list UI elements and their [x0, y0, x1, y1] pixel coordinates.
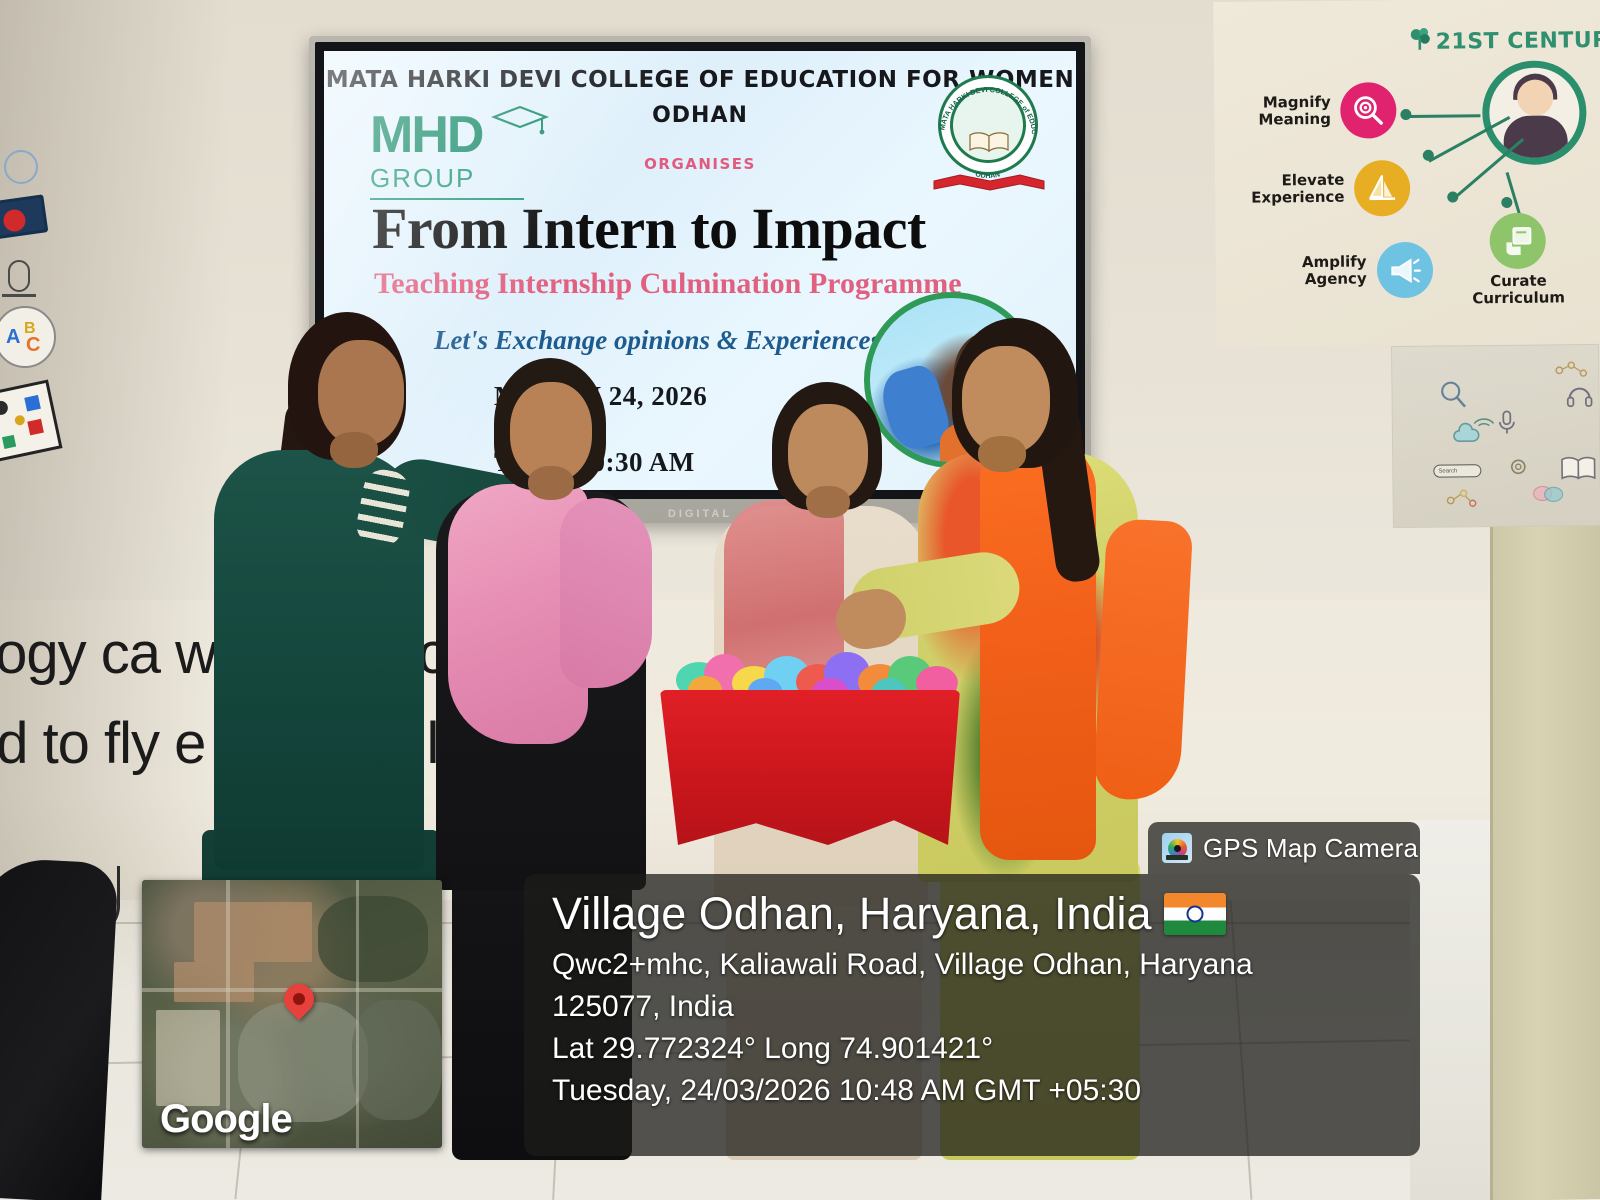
book-icon [1559, 453, 1597, 483]
slide-heading: From Intern to Impact [372, 195, 926, 262]
open-book-icon [969, 131, 1009, 153]
right-door-column [1490, 519, 1600, 1200]
person-partial-foreground [0, 857, 119, 1200]
poster-21st-century: 21ST CENTURY MagnifyMeaning [1213, 0, 1600, 347]
mhd-group-logo: MHD GROUP [370, 109, 550, 205]
network-node-icon [1446, 486, 1480, 508]
india-flag-icon [1164, 893, 1226, 935]
gps-camera-app-icon [1162, 833, 1192, 863]
poster-item-label: MagnifyMeaning [1258, 94, 1331, 128]
chat-bubble-icon [1531, 481, 1565, 505]
gps-text-block: Village Odhan, Haryana, India Qwc2+mhc, … [552, 890, 1422, 1111]
poster-item-amplify-agency: AmplifyAgency [1302, 242, 1433, 299]
connector-dot [1400, 109, 1411, 120]
magnifier-target-icon [1341, 82, 1398, 139]
microphone-icon [1493, 408, 1521, 436]
google-watermark: Google [160, 1097, 292, 1142]
whiteboard-hand-icon [1490, 213, 1547, 270]
student-avatar-icon [1482, 60, 1587, 165]
megaphone-icon [1376, 242, 1433, 299]
poster-tech-icons: Search [1391, 344, 1600, 528]
poster-item-label: ElevateExperience [1251, 172, 1345, 207]
mhd-logo-group-text: GROUP [370, 163, 550, 194]
connector-dot [1447, 191, 1458, 202]
poster-item-label: CurateCurriculum [1472, 272, 1565, 307]
microphone-icon [8, 260, 30, 292]
college-emblem: MATA HARKI DEVI COLLEGE of EDUCATION for… [930, 75, 1048, 199]
palette-grid-icon [0, 379, 63, 462]
gear-icon [1505, 454, 1531, 480]
photo-frame-icon [0, 194, 48, 239]
poster-title: 21ST CENTURY [1436, 28, 1600, 55]
gps-coordinates: Lat 29.772324° Long 74.901421° [552, 1029, 1422, 1069]
sailboat-icon [1354, 160, 1411, 217]
gps-app-name: GPS Map Camera [1203, 833, 1418, 864]
photograph: ology ca w the educa rld to fly e - if w… [0, 0, 1600, 1200]
abc-circle-icon: A B C [0, 306, 56, 368]
poster-item-label: AmplifyAgency [1302, 254, 1367, 288]
gps-location-name: Village Odhan, Haryana, India [552, 890, 1152, 937]
tv-brand-label: DIGITAL [668, 508, 732, 520]
svg-text:MATA HARKI DEVI COLLEGE of EDU: MATA HARKI DEVI COLLEGE of EDUCATION for… [930, 75, 1039, 135]
gps-map-camera-badge: GPS Map Camera [1148, 822, 1420, 874]
poster-item-curate-curriculum: CurateCurriculum [1471, 212, 1565, 307]
poster-item-elevate-experience: ElevateExperience [1251, 160, 1411, 218]
network-node-icon [1554, 359, 1588, 381]
search-label: Search [1438, 468, 1457, 474]
connector-dot [1501, 197, 1512, 208]
gps-address-line-1: Qwc2+mhc, Kaliawali Road, Village Odhan,… [552, 945, 1422, 985]
table-with-red-cloth [660, 690, 960, 845]
magnifier-icon [1436, 378, 1470, 412]
tree-icon [1407, 26, 1433, 52]
poster-item-magnify-meaning: MagnifyMeaning [1258, 82, 1397, 139]
poster-left-partial: A B C [0, 150, 56, 510]
gps-timestamp: Tuesday, 24/03/2026 10:48 AM GMT +05:30 [552, 1071, 1422, 1111]
gps-address-line-2: 125077, India [552, 987, 1422, 1027]
connector-dot [1423, 150, 1434, 161]
graduation-cap-icon [490, 105, 550, 135]
search-input-illustration: Search [1433, 464, 1481, 478]
slide-subheading: Teaching Internship Culmination Programm… [374, 267, 962, 301]
emblem-ribbon [930, 169, 1048, 195]
circle-icon [4, 150, 38, 184]
gps-map-thumbnail[interactable]: Google [142, 880, 442, 1148]
headphones-icon [1564, 381, 1594, 411]
connector-line [1408, 114, 1480, 118]
gps-location-title: Village Odhan, Haryana, India [552, 890, 1422, 937]
wifi-icon [1471, 408, 1497, 430]
slide-tagline: Let's Exchange opinions & Experiences [434, 325, 881, 356]
